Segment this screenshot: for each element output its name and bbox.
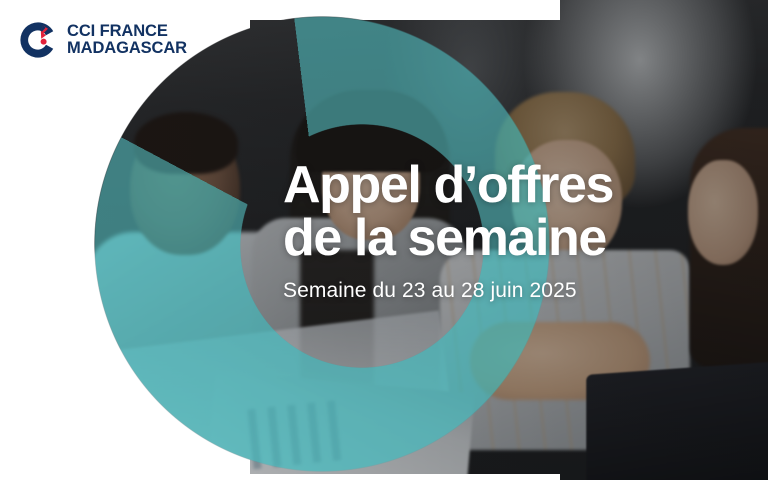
- page-title-line2: de la semaine: [283, 213, 703, 264]
- cci-c-monogram-icon: [18, 20, 58, 60]
- white-background-bottom: [0, 474, 560, 480]
- announcement-banner: CCI FRANCE MADAGASCAR Appel d’offres de …: [0, 0, 768, 480]
- brand-logo: CCI FRANCE MADAGASCAR: [18, 20, 187, 60]
- page-title-line1: Appel d’offres: [283, 160, 703, 211]
- white-background-top: [0, 0, 560, 20]
- white-background-left: [0, 0, 250, 480]
- brand-name: CCI FRANCE MADAGASCAR: [67, 23, 187, 57]
- headline-block: Appel d’offres de la semaine Semaine du …: [283, 160, 703, 303]
- page-subtitle: Semaine du 23 au 28 juin 2025: [283, 279, 703, 303]
- brand-name-line2: MADAGASCAR: [67, 40, 187, 57]
- brand-name-line1: CCI FRANCE: [67, 23, 187, 40]
